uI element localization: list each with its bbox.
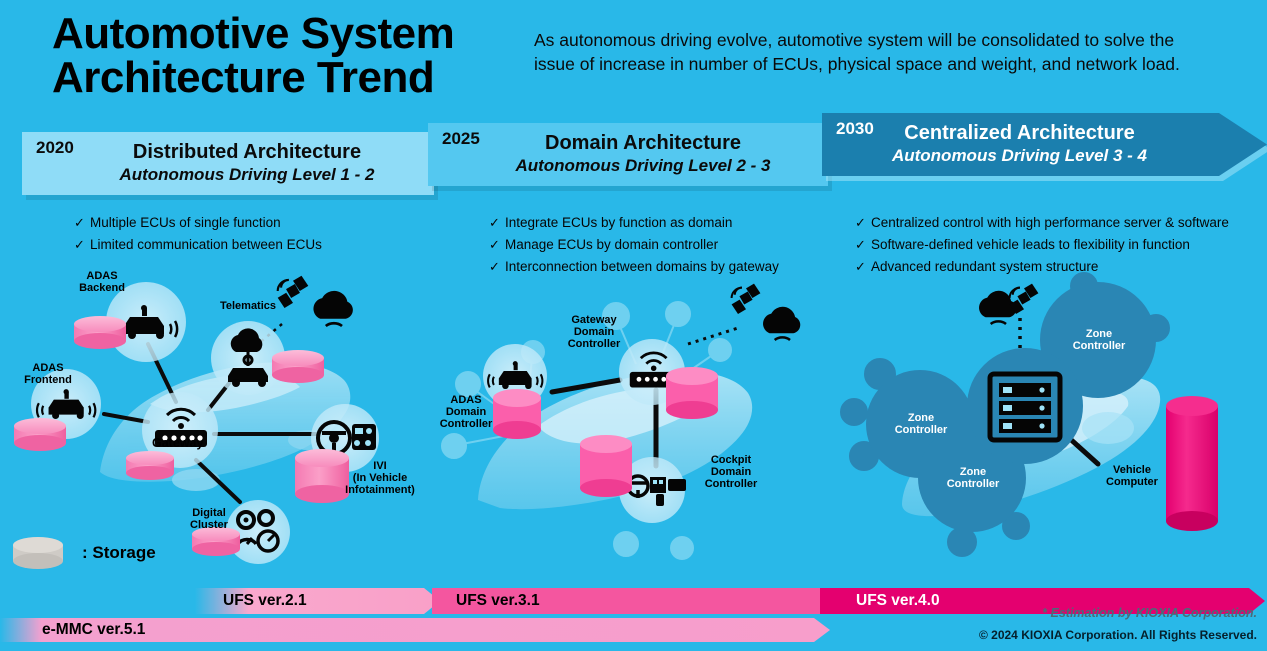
timeline-bar-label: UFS ver.4.0	[820, 592, 940, 610]
node-label-telematics: Telematics	[200, 300, 296, 312]
node-label-adas-backend: ADAS Backend	[62, 270, 142, 294]
bullet-item: ✓ Integrate ECUs by function as domain	[489, 213, 849, 232]
page-title-line1: Automotive System	[52, 9, 454, 58]
banner-level: Autonomous Driving Level 2 - 3	[458, 155, 828, 177]
banner-architecture: Centralized Architecture	[842, 121, 1197, 145]
storage-legend-label: : Storage	[82, 543, 156, 563]
bullet-list-centralized: ✓ Centralized control with high performa…	[855, 213, 1255, 279]
check-icon: ✓	[74, 213, 90, 232]
check-icon: ✓	[489, 235, 505, 254]
banner-architecture: Distributed Architecture	[60, 140, 434, 164]
timeline-bar-label: UFS ver.3.1	[432, 592, 540, 610]
bullet-list-distributed: ✓ Multiple ECUs of single function ✓ Lim…	[74, 213, 414, 257]
bullet-item: ✓ Interconnection between domains by gat…	[489, 257, 849, 276]
bullet-item: ✓ Software-defined vehicle leads to flex…	[855, 235, 1255, 254]
bullet-text: Integrate ECUs by function as domain	[505, 213, 732, 232]
phase-banner-2020: 2020 Distributed Architecture Autonomous…	[22, 132, 434, 195]
banner-text: Distributed Architecture Autonomous Driv…	[60, 140, 434, 186]
bullet-text: Centralized control with high performanc…	[871, 213, 1229, 232]
mesh-dots-cockpit	[614, 532, 693, 559]
copyright-notice: © 2024 KIOXIA Corporation. All Rights Re…	[979, 628, 1257, 642]
banner-text: Domain Architecture Autonomous Driving L…	[458, 131, 828, 177]
bullet-item: ✓ Multiple ECUs of single function	[74, 213, 414, 232]
check-icon: ✓	[489, 257, 505, 276]
bullet-text: Interconnection between domains by gatew…	[505, 257, 779, 276]
banner-level: Autonomous Driving Level 3 - 4	[842, 145, 1197, 167]
bullet-item: ✓ Manage ECUs by domain controller	[489, 235, 849, 254]
diagram-distributed-architecture: ADAS Backend ADAS Frontend Telematics Ga…	[0, 262, 440, 562]
bullet-text: Software-defined vehicle leads to flexib…	[871, 235, 1190, 254]
banner-text: Centralized Architecture Autonomous Driv…	[842, 121, 1197, 167]
timeline-bar-label: UFS ver.2.1	[195, 592, 307, 610]
phase-banner-2025: 2025 Domain Architecture Autonomous Driv…	[428, 123, 828, 186]
check-icon: ✓	[855, 235, 871, 254]
bullet-text: Advanced redundant system structure	[871, 257, 1098, 276]
node-label-digital-cluster: Digital Cluster	[178, 507, 240, 531]
check-icon: ✓	[855, 257, 871, 276]
storage-cylinder-icon	[272, 350, 324, 383]
node-label-vehicle-computer: Vehicle Computer	[1092, 464, 1172, 488]
satellite-icon	[732, 284, 761, 314]
bullet-list-domain: ✓ Integrate ECUs by function as domain ✓…	[489, 213, 849, 279]
check-icon: ✓	[74, 235, 90, 254]
storage-cylinder-icon	[74, 316, 126, 349]
node-label-ivi: IVI (In Vehicle Infotainment)	[335, 460, 425, 496]
bullet-text: Limited communication between ECUs	[90, 235, 322, 254]
node-label-gateway-domain-controller: Gateway Domain Controller	[546, 314, 642, 350]
banner-architecture: Domain Architecture	[458, 131, 828, 155]
storage-cylinder-icon	[192, 527, 240, 556]
check-icon: ✓	[489, 213, 505, 232]
node-label-zone-controller-bottom: Zone Controller	[934, 466, 1012, 490]
bullet-text: Multiple ECUs of single function	[90, 213, 281, 232]
bullet-item: ✓ Centralized control with high performa…	[855, 213, 1255, 232]
diagram-domain-architecture: ADAS Domain Controller Gateway Domain Co…	[420, 276, 820, 566]
server-icon	[990, 374, 1060, 440]
timeline-bar-ufs-3-1: UFS ver.3.1	[432, 588, 856, 614]
storage-cylinder-icon	[14, 418, 66, 451]
storage-cylinder-icon	[10, 536, 66, 570]
node-label-cockpit-domain-controller: Cockpit Domain Controller	[688, 454, 774, 490]
infographic-canvas: Automotive System Architecture Trend As …	[0, 0, 1267, 651]
cloud-icon	[763, 307, 800, 340]
timeline-bar-label: e-MMC ver.5.1	[0, 621, 145, 639]
check-icon: ✓	[855, 213, 871, 232]
diagram-centralized-architecture: Zone Controller Zone Controller Zone Con…	[840, 278, 1267, 568]
intro-paragraph: As autonomous driving evolve, automotive…	[534, 28, 1204, 76]
node-label-zone-controller-top: Zone Controller	[1060, 328, 1138, 352]
bullet-item: ✓ Advanced redundant system structure	[855, 257, 1255, 276]
timeline-bar-ufs-2-1: UFS ver.2.1	[195, 588, 440, 614]
timeline-bar-emmc-5-1: e-MMC ver.5.1	[0, 618, 830, 642]
storage-cylinder-icon	[126, 451, 174, 480]
node-label-gateway: Gateway	[152, 436, 203, 450]
bullet-text: Manage ECUs by domain controller	[505, 235, 718, 254]
satellite-icon	[1010, 284, 1039, 314]
node-label-zone-controller-left: Zone Controller	[882, 412, 960, 436]
node-label-adas-domain-controller: ADAS Domain Controller	[428, 394, 504, 430]
storage-cylinder-icon	[580, 435, 632, 497]
storage-cylinder-icon	[666, 367, 718, 419]
banner-level: Autonomous Driving Level 1 - 2	[60, 164, 434, 186]
node-label-adas-frontend: ADAS Frontend	[8, 362, 88, 386]
storage-legend: : Storage	[10, 536, 156, 570]
cloud-icon	[313, 291, 352, 326]
bullet-item: ✓ Limited communication between ECUs	[74, 235, 414, 254]
estimation-note: * Estimation by KIOXIA Corporation.	[1042, 606, 1257, 620]
storage-cylinder-icon	[1166, 396, 1218, 531]
page-title: Automotive System Architecture Trend	[52, 12, 522, 100]
phase-banner-2030: 2030 Centralized Architecture Autonomous…	[822, 113, 1267, 176]
page-title-line2: Architecture Trend	[52, 56, 522, 100]
